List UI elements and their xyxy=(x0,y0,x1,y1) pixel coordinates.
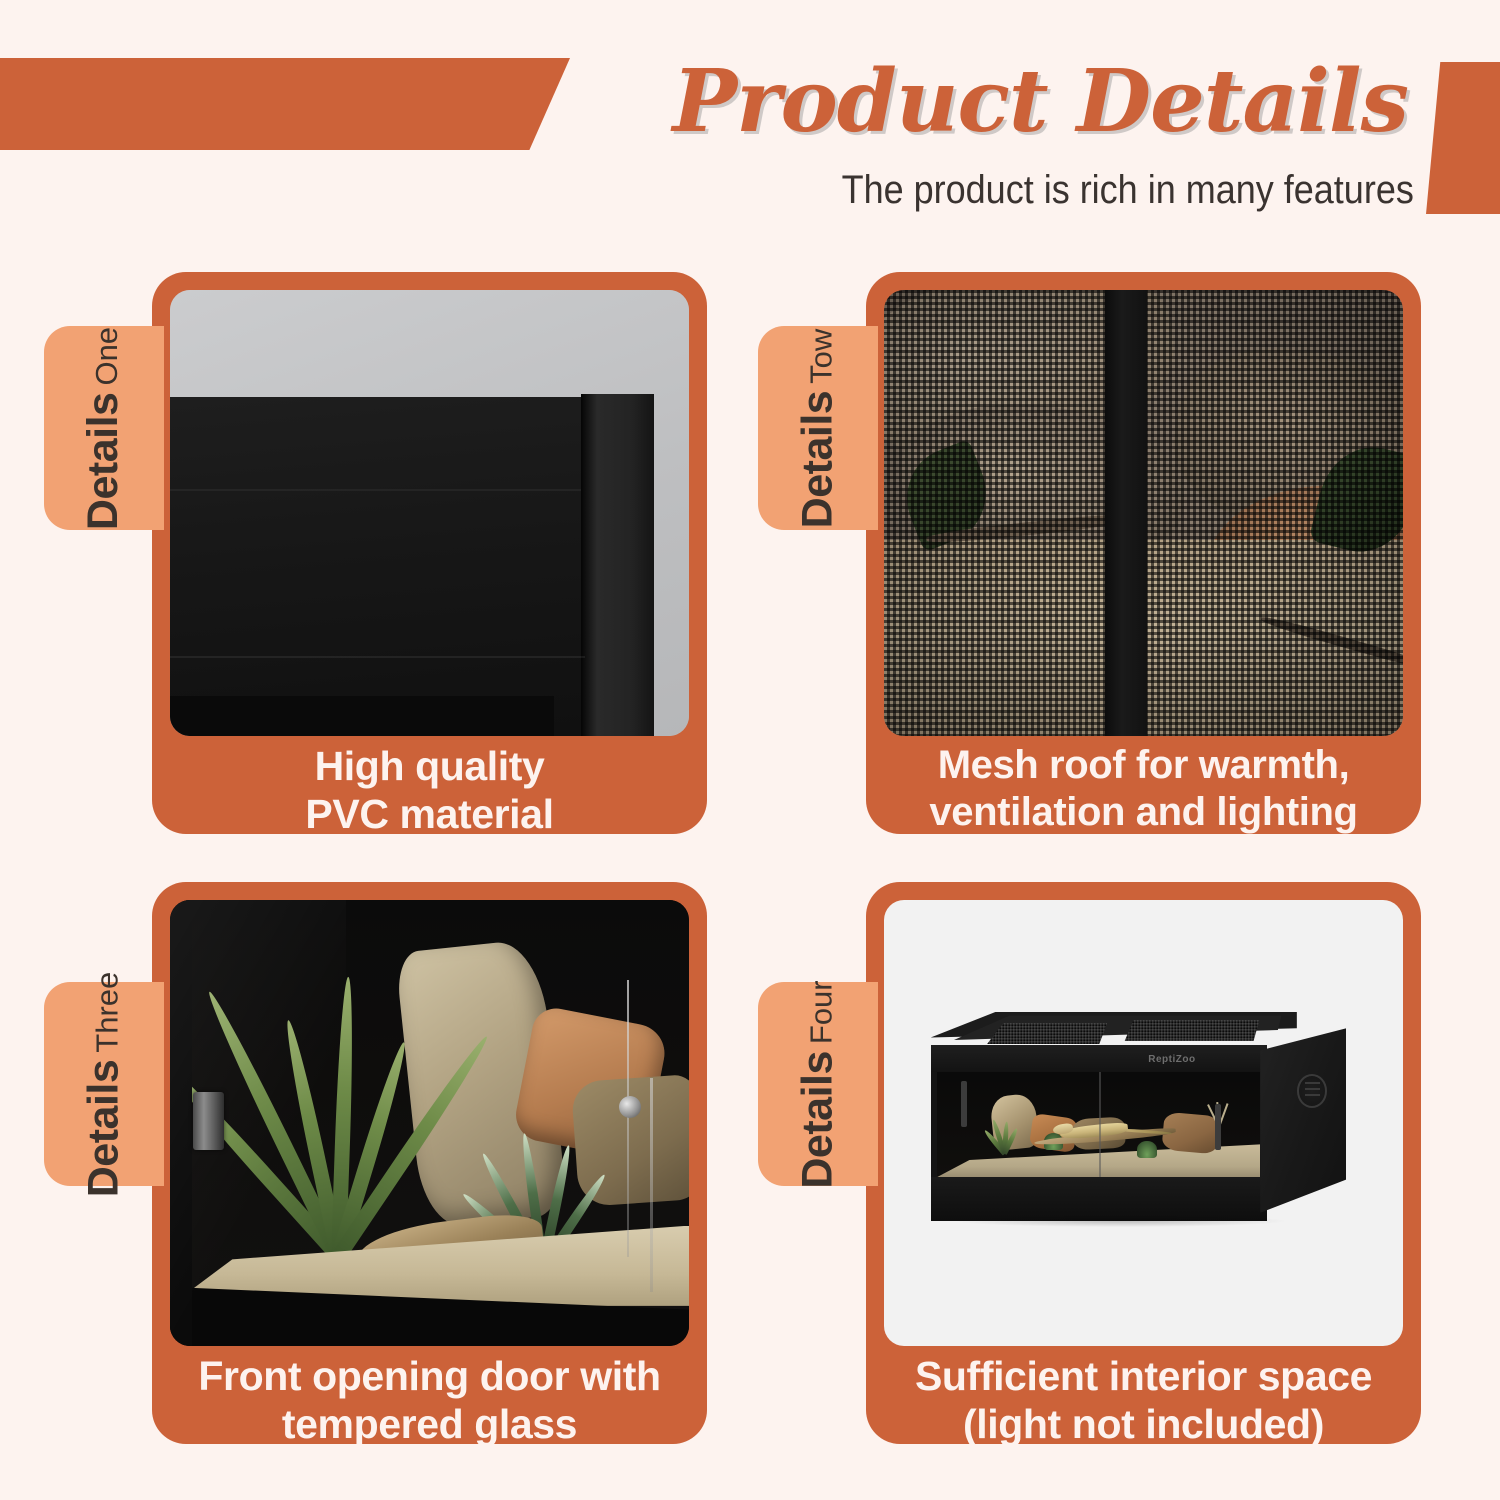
detail-card-four: ReptiZoo xyxy=(866,882,1421,1444)
thermometer-probe-wire xyxy=(627,980,629,1257)
front-door-photo xyxy=(170,900,689,1346)
header: Product Details The product is rich in m… xyxy=(0,0,1500,250)
pvc-material-photo xyxy=(170,290,689,736)
tab-details-one-number: One xyxy=(90,326,126,385)
detail-card-three: Front opening door with tempered glass D… xyxy=(152,882,707,1444)
mesh-panel-right xyxy=(1116,1020,1262,1041)
glass-door-handle-left[interactable] xyxy=(961,1081,967,1127)
tab-details-one-label: Details xyxy=(80,392,129,530)
door-handle[interactable] xyxy=(193,1092,224,1150)
product-details-infographic: Product Details The product is rich in m… xyxy=(0,0,1500,1500)
tab-details-four-number: Four xyxy=(804,980,840,1044)
tab-details-two-number: Tow xyxy=(804,328,840,383)
mesh-center-support-bar xyxy=(1105,290,1148,736)
card-four-image: ReptiZoo xyxy=(884,900,1403,1346)
tab-details-three-number: Three xyxy=(90,971,126,1052)
glass-doors xyxy=(937,1072,1260,1177)
card-two-caption-line-2: ventilation and lighting xyxy=(878,789,1409,836)
page-subtitle: The product is rich in many features xyxy=(842,168,1414,213)
card-three-caption-line-2: tempered glass xyxy=(164,1400,695,1448)
card-three-image xyxy=(170,900,689,1346)
mesh-roof-photo xyxy=(884,290,1403,736)
brand-logo: ReptiZoo xyxy=(1146,1052,1198,1067)
detail-card-one: High quality PVC material Details One xyxy=(152,272,707,834)
card-four-caption: Sufficient interior space (light not inc… xyxy=(866,1352,1421,1449)
pvc-panel-edge xyxy=(581,394,654,736)
tab-details-four[interactable]: Details Four xyxy=(758,982,878,1186)
terrarium-side-panel xyxy=(1260,1028,1346,1212)
product-shadow xyxy=(957,1215,1284,1228)
header-right-accent-bar xyxy=(1426,62,1500,214)
side-vent-icon xyxy=(1297,1074,1327,1108)
glass-door-handle-right[interactable] xyxy=(1215,1104,1221,1150)
pvc-panel-base xyxy=(170,696,554,736)
card-three-caption: Front opening door with tempered glass xyxy=(152,1352,707,1449)
card-two-caption: Mesh roof for warmth, ventilation and li… xyxy=(866,742,1421,836)
tab-details-three-label: Details xyxy=(80,1059,129,1197)
card-four-caption-line-1: Sufficient interior space xyxy=(878,1352,1409,1400)
card-three-caption-line-1: Front opening door with xyxy=(164,1352,695,1400)
thermometer-probe-wire-secondary xyxy=(650,1078,653,1292)
page-title: Product Details xyxy=(672,60,1408,144)
card-one-image xyxy=(170,290,689,736)
glass-door-divider xyxy=(1099,1072,1101,1177)
terrarium-product: ReptiZoo xyxy=(931,1012,1362,1222)
succulent-right xyxy=(1137,1141,1156,1158)
tab-details-three[interactable]: Details Three xyxy=(44,982,164,1186)
tab-details-one-inner: Details One xyxy=(80,326,129,529)
pvc-panel-seam xyxy=(170,656,585,658)
full-product-photo: ReptiZoo xyxy=(884,900,1403,1346)
card-four-caption-line-2: (light not included) xyxy=(878,1400,1409,1448)
detail-card-two: Mesh roof for warmth, ventilation and li… xyxy=(866,272,1421,834)
card-two-image xyxy=(884,290,1403,736)
thermometer-probe-head xyxy=(619,1096,641,1118)
card-two-caption-line-1: Mesh roof for warmth, xyxy=(878,742,1409,789)
tab-details-four-label: Details xyxy=(794,1051,843,1189)
bearded-dragon xyxy=(1060,1120,1170,1141)
card-one-caption-line-1: High quality xyxy=(164,742,695,790)
tab-details-one[interactable]: Details One xyxy=(44,326,164,530)
page-title-container: Product Details xyxy=(0,60,1420,144)
terrarium-top-rail xyxy=(931,1045,1267,1072)
tab-details-two-label: Details xyxy=(794,390,843,528)
pvc-black-panel xyxy=(170,397,585,736)
page-subtitle-container: The product is rich in many features xyxy=(0,168,1414,213)
tab-details-two[interactable]: Details Tow xyxy=(758,326,878,530)
card-one-caption: High quality PVC material xyxy=(152,742,707,839)
tab-details-three-inner: Details Three xyxy=(80,971,129,1197)
tab-details-two-inner: Details Tow xyxy=(794,328,843,528)
tab-details-four-inner: Details Four xyxy=(794,980,843,1188)
card-one-caption-line-2: PVC material xyxy=(164,790,695,838)
brand-logo-text: ReptiZoo xyxy=(1148,1054,1195,1065)
aloe-plant xyxy=(976,1118,1028,1154)
